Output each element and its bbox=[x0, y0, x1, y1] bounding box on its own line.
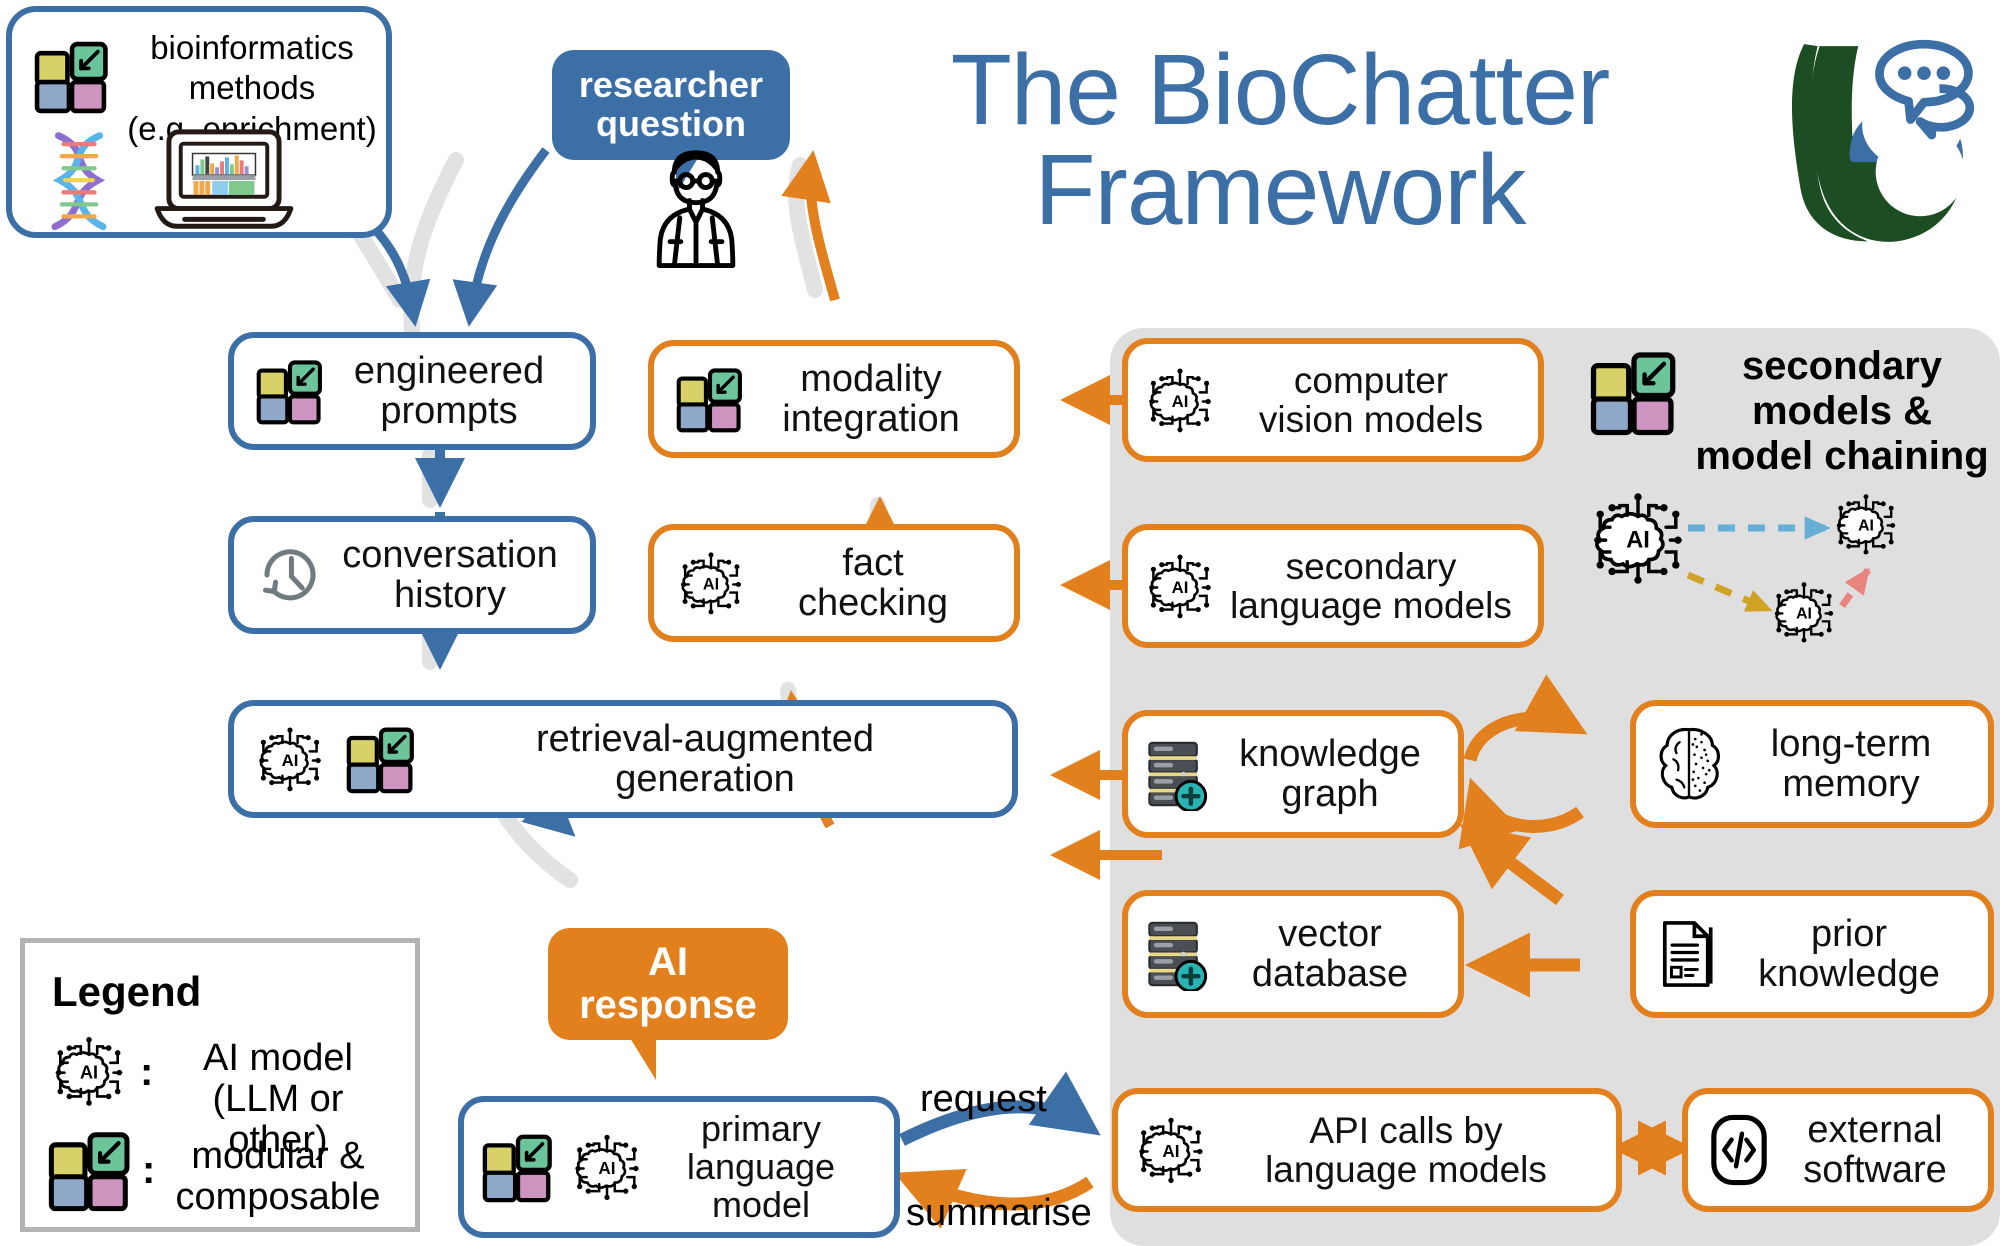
box-label: vector database bbox=[1216, 914, 1444, 995]
ai-response-tail bbox=[630, 1038, 656, 1080]
label-line3: model bbox=[646, 1186, 876, 1224]
label-line2: graph bbox=[1216, 774, 1444, 814]
legend-item-2-line2: composable bbox=[158, 1177, 398, 1218]
legend-item-2-line1: modular & bbox=[158, 1136, 398, 1177]
ai-brain-icon bbox=[1142, 362, 1218, 438]
label-line2: language bbox=[646, 1148, 876, 1186]
box-external-software: external software bbox=[1682, 1088, 1994, 1212]
bubble-line1: researcher bbox=[579, 66, 763, 105]
bioinformatics-line1: bioinformatics bbox=[118, 28, 386, 68]
modular-squares-icon bbox=[48, 1128, 132, 1212]
section-title-line2: models & bbox=[1692, 389, 1992, 434]
box-label: secondary language models bbox=[1218, 547, 1524, 625]
modular-squares-icon bbox=[34, 38, 110, 114]
label-line1: modality bbox=[744, 359, 998, 399]
ai-brain-icon bbox=[670, 546, 748, 620]
box-label: retrieval-augmented generation bbox=[416, 719, 994, 800]
box-label: external software bbox=[1776, 1110, 1974, 1191]
box-prior-knowledge: prior knowledge bbox=[1630, 890, 1994, 1018]
legend-title: Legend bbox=[52, 968, 201, 1016]
box-label: fact checking bbox=[748, 543, 998, 624]
database-plus-icon bbox=[1142, 737, 1216, 811]
database-plus-icon bbox=[1142, 917, 1216, 991]
document-icon bbox=[1650, 917, 1724, 991]
arrow-question-to-prompts bbox=[470, 150, 546, 318]
bioinformatics-line2: methods bbox=[118, 68, 386, 108]
label-line2: knowledge bbox=[1724, 954, 1974, 994]
label-line2: vision models bbox=[1218, 400, 1524, 439]
box-modality-integration: modality integration bbox=[648, 340, 1020, 458]
box-label: computer vision models bbox=[1218, 361, 1524, 439]
box-engineered-prompts: engineered prompts bbox=[228, 332, 596, 450]
box-label: engineered prompts bbox=[324, 351, 574, 432]
label-line1: secondary bbox=[1218, 547, 1524, 586]
box-api-calls: API calls by language models bbox=[1112, 1088, 1622, 1212]
brain-dotted-icon bbox=[1650, 725, 1728, 803]
page-title: The BioChatter Framework bbox=[880, 40, 1680, 240]
modular-squares-icon bbox=[670, 365, 744, 433]
label-line1: computer bbox=[1218, 361, 1524, 400]
box-primary-language-model: primary language model bbox=[458, 1096, 900, 1238]
modular-squares-icon bbox=[482, 1131, 554, 1203]
legend-item-1-line1: AI model bbox=[158, 1038, 398, 1079]
bubble-line2: question bbox=[579, 105, 763, 144]
label-line2: database bbox=[1216, 954, 1444, 994]
laptop-chart-icon bbox=[134, 124, 314, 242]
legend-separator-1: : bbox=[140, 1050, 153, 1095]
label-line2: history bbox=[326, 575, 574, 615]
box-label: API calls by language models bbox=[1210, 1111, 1602, 1189]
dna-helix-icon bbox=[36, 130, 122, 234]
box-label: conversation history bbox=[326, 535, 574, 616]
label-line1: conversation bbox=[326, 535, 574, 575]
section-title-line1: secondary bbox=[1692, 344, 1992, 389]
label-line1: vector bbox=[1216, 914, 1444, 954]
box-label: knowledge graph bbox=[1216, 734, 1444, 815]
code-brackets-icon bbox=[1702, 1113, 1776, 1187]
box-label: primary language model bbox=[646, 1110, 876, 1224]
summarise-label: summarise bbox=[906, 1192, 1092, 1235]
label-line1: API calls by bbox=[1210, 1111, 1602, 1150]
label-line1: retrieval-augmented bbox=[416, 719, 994, 759]
box-label: modality integration bbox=[744, 359, 998, 440]
researcher-avatar-icon bbox=[638, 142, 754, 272]
biochatter-logo bbox=[1750, 24, 1982, 248]
box-label: long-term memory bbox=[1728, 724, 1974, 805]
label-line2: memory bbox=[1728, 764, 1974, 804]
ai-brain-icon bbox=[554, 1128, 646, 1206]
label-line1: engineered bbox=[324, 351, 574, 391]
secondary-models-title: secondary models & model chaining bbox=[1692, 344, 1992, 478]
ai-brain-icon bbox=[1132, 1111, 1210, 1189]
label-line1: prior bbox=[1724, 914, 1974, 954]
clock-history-icon bbox=[250, 539, 326, 611]
label-line2: prompts bbox=[324, 391, 574, 431]
box-vector-database: vector database bbox=[1122, 890, 1464, 1018]
title-line2: Framework bbox=[880, 140, 1680, 240]
label-line1: knowledge bbox=[1216, 734, 1444, 774]
label-line2: software bbox=[1776, 1150, 1974, 1190]
arrow-modality-to-researcher bbox=[810, 160, 835, 300]
label-line2: language models bbox=[1218, 586, 1524, 625]
model-chaining-diagram bbox=[1580, 470, 2000, 650]
ai-brain-icon bbox=[48, 1030, 130, 1112]
label-line1: long-term bbox=[1728, 724, 1974, 764]
bioinformatics-methods-box: bioinformatics methods (e.g. enrichment) bbox=[6, 6, 392, 238]
label-line2: integration bbox=[744, 399, 998, 439]
box-secondary-language-models: secondary language models bbox=[1122, 524, 1544, 648]
modular-squares-icon bbox=[328, 724, 416, 794]
label-line2: checking bbox=[748, 583, 998, 623]
box-knowledge-graph: knowledge graph bbox=[1122, 710, 1464, 838]
ai-response-bubble: AI response bbox=[548, 928, 788, 1040]
box-conversation-history: conversation history bbox=[228, 516, 596, 634]
label-line1: fact bbox=[748, 543, 998, 583]
ai-brain-icon bbox=[252, 721, 328, 797]
box-long-term-memory: long-term memory bbox=[1630, 700, 1994, 828]
box-retrieval-augmented-generation: retrieval-augmented generation bbox=[228, 700, 1018, 818]
box-label: prior knowledge bbox=[1724, 914, 1974, 995]
label-line1: primary bbox=[646, 1110, 876, 1148]
legend-item-2-text: modular & composable bbox=[158, 1136, 398, 1218]
modular-squares-icon bbox=[250, 357, 324, 425]
label-line2: language models bbox=[1210, 1150, 1602, 1189]
request-label: request bbox=[920, 1078, 1047, 1121]
label-line1: external bbox=[1776, 1110, 1974, 1150]
box-fact-checking: fact checking bbox=[648, 524, 1020, 642]
box-computer-vision-models: computer vision models bbox=[1122, 338, 1544, 462]
ai-response-line1: AI bbox=[579, 941, 757, 984]
ai-response-line2: response bbox=[579, 984, 757, 1027]
diagram-canvas: AI bbox=[0, 0, 2000, 1246]
ai-brain-icon bbox=[1142, 548, 1218, 624]
legend-separator-2: : bbox=[142, 1148, 155, 1193]
modular-squares-icon bbox=[1590, 348, 1678, 436]
title-line1: The BioChatter bbox=[880, 40, 1680, 140]
label-line2: generation bbox=[416, 759, 994, 799]
